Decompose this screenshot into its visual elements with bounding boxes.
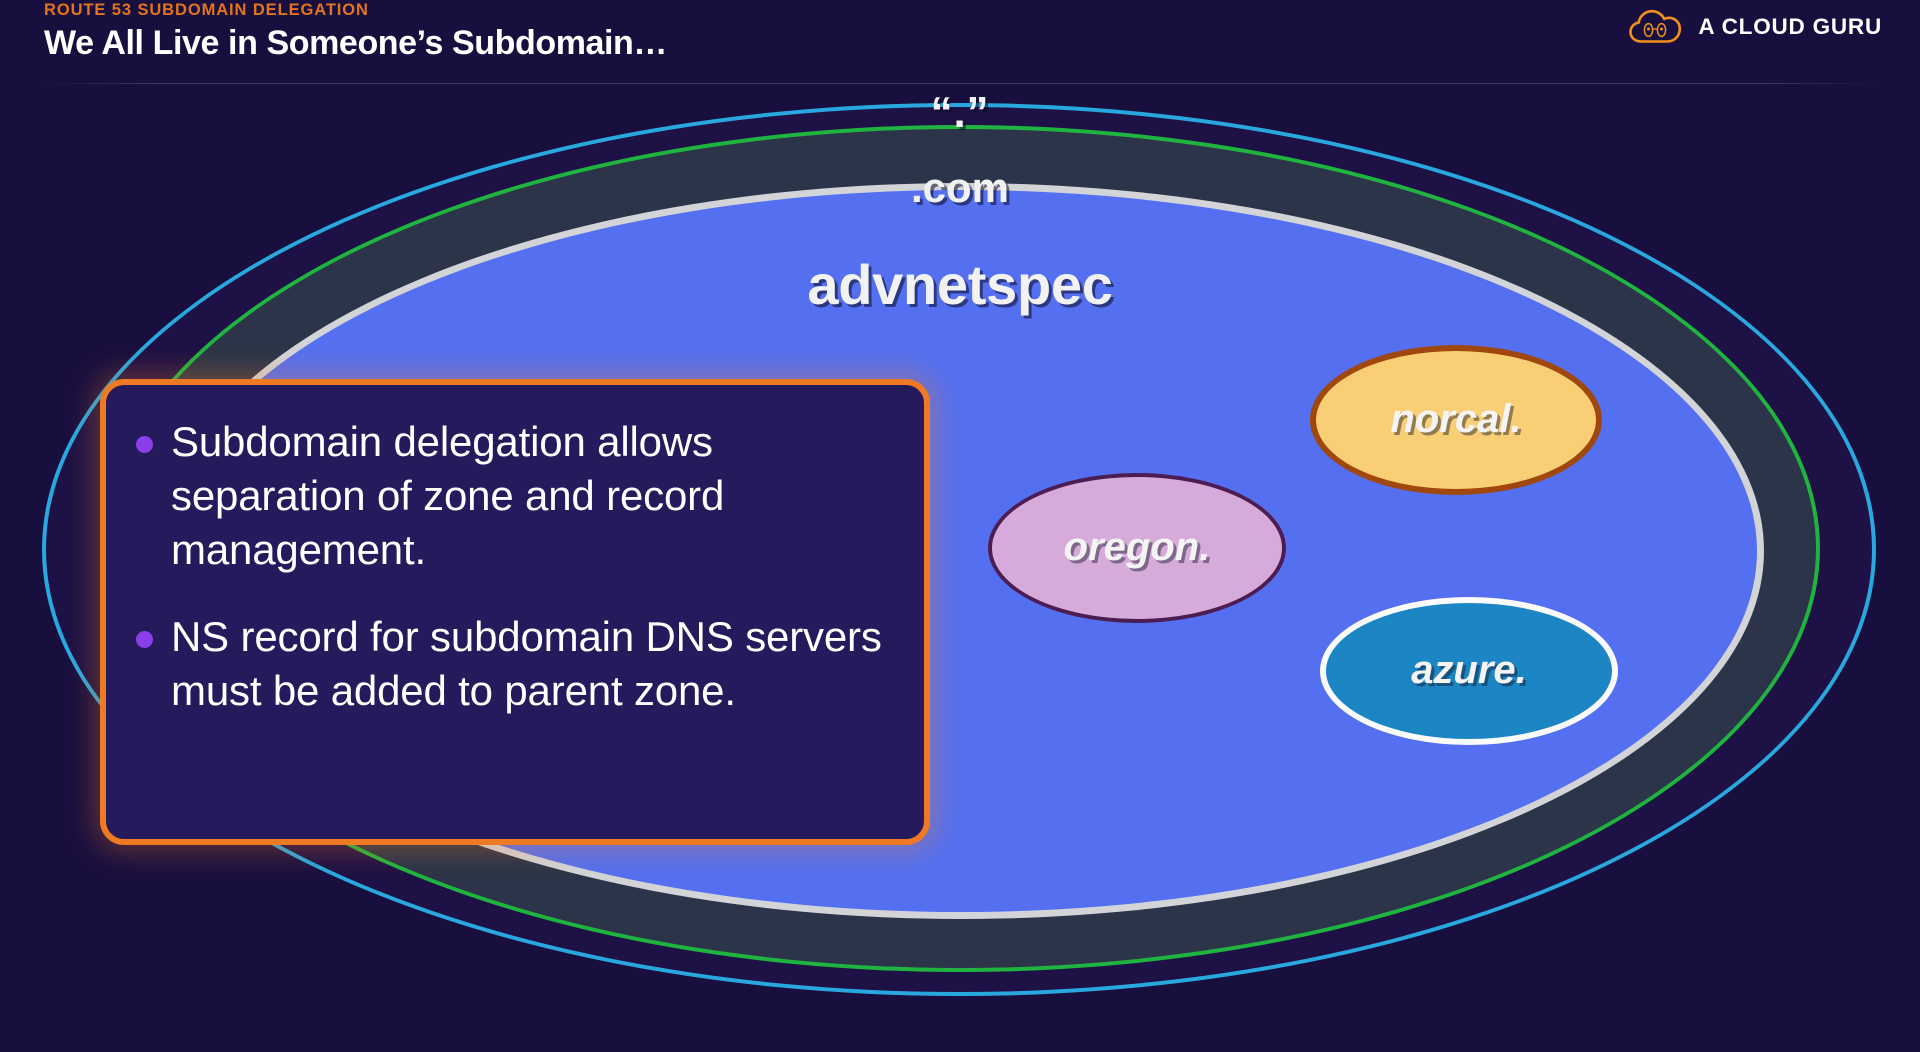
subzone-ellipse-azure: azure. — [1320, 597, 1618, 745]
bullet-dot-icon — [136, 436, 153, 453]
slide-canvas: “.” .com advnetspec oregon. norcal. azur… — [0, 0, 1920, 1052]
zone-label-root: “.” — [0, 88, 1920, 138]
header-divider — [44, 83, 1876, 84]
subzone-ellipse-oregon: oregon. — [988, 473, 1286, 623]
cloud-guru-logo-icon — [1628, 7, 1684, 47]
bullet-dot-icon — [136, 631, 153, 648]
eyebrow-label: ROUTE 53 SUBDOMAIN DELEGATION — [44, 1, 369, 20]
page-title: We All Live in Someone’s Subdomain… — [44, 24, 667, 63]
bullet-text: NS record for subdomain DNS servers must… — [171, 610, 890, 718]
bullet-item: Subdomain delegation allows separation o… — [136, 415, 890, 578]
brand-lockup: A CLOUD GURU — [1628, 5, 1882, 49]
brand-name-label: A CLOUD GURU — [1698, 14, 1882, 40]
zone-label-advnetspec: advnetspec — [0, 252, 1920, 317]
bullet-text: Subdomain delegation allows separation o… — [171, 415, 890, 578]
slide-header: ROUTE 53 SUBDOMAIN DELEGATION We All Liv… — [0, 0, 1920, 88]
zone-label-com: .com — [0, 164, 1920, 212]
callout-box: Subdomain delegation allows separation o… — [100, 379, 930, 845]
subzone-label-oregon: oregon. — [1064, 525, 1211, 570]
subzone-label-norcal: norcal. — [1390, 397, 1521, 442]
subzone-label-azure: azure. — [1411, 648, 1527, 693]
bullet-item: NS record for subdomain DNS servers must… — [136, 610, 890, 718]
subzone-ellipse-norcal: norcal. — [1310, 345, 1602, 495]
